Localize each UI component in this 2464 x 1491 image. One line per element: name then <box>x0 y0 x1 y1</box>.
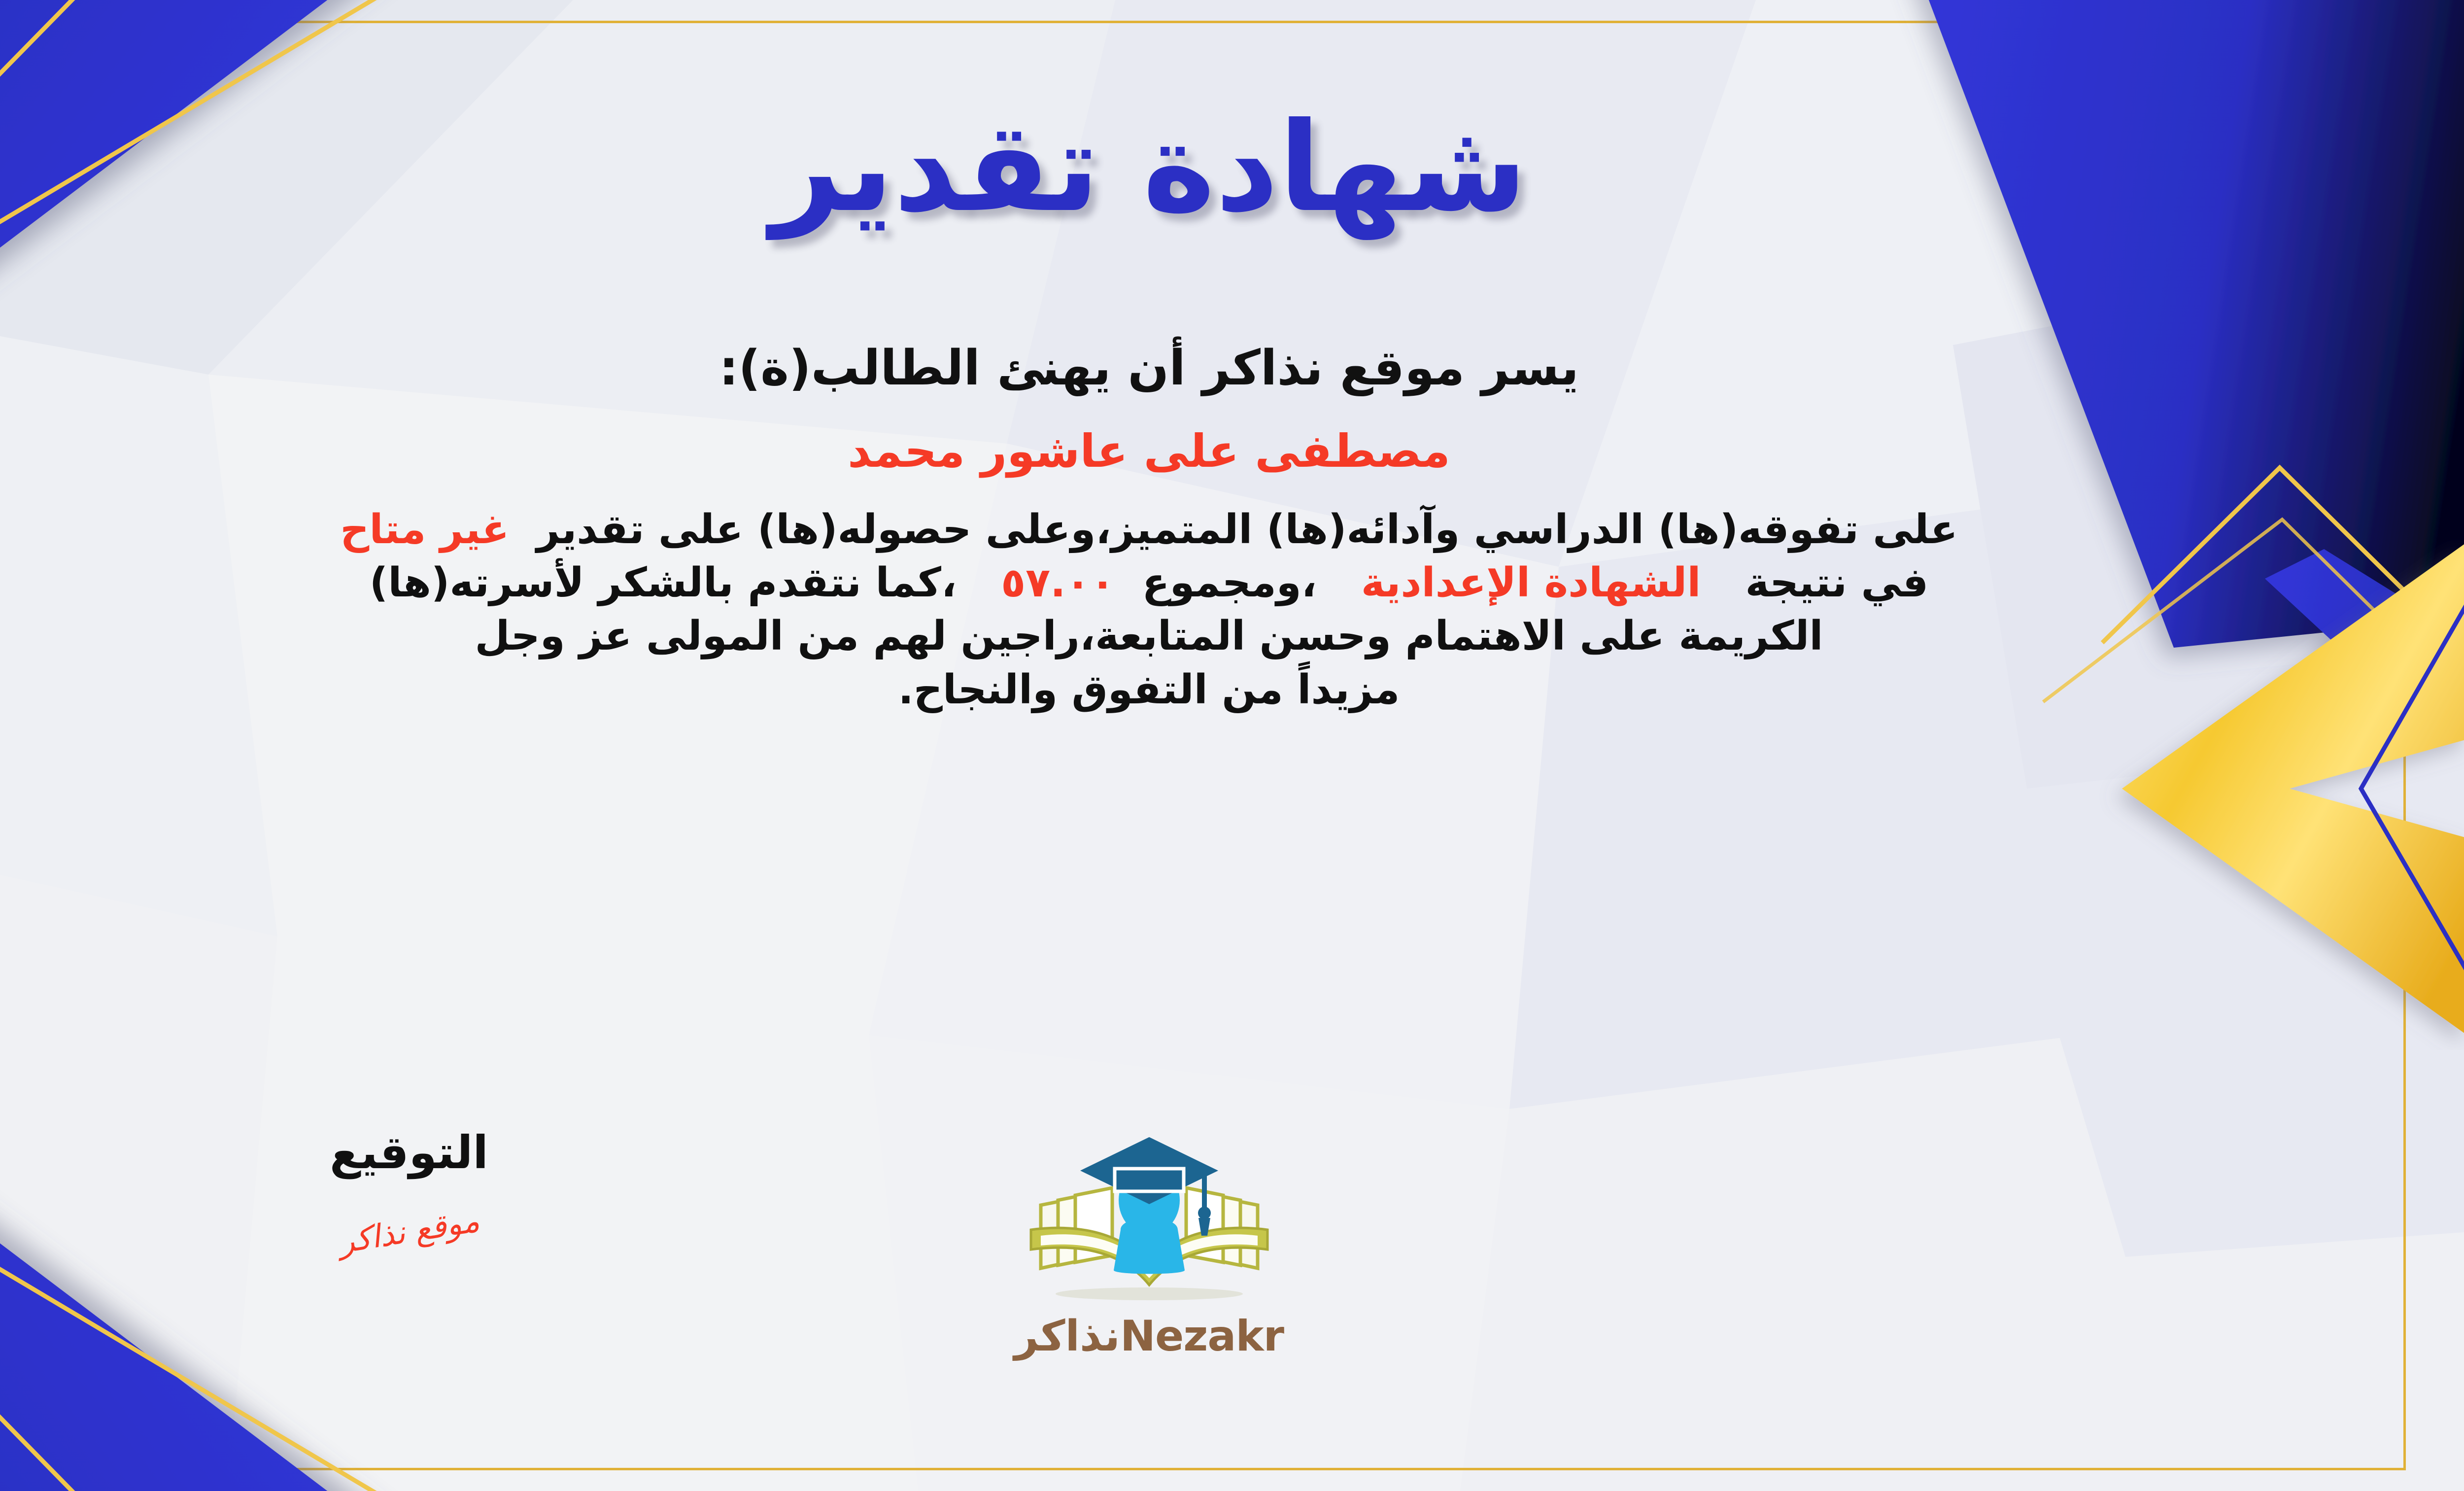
signature-label: التوقيع <box>222 1126 596 1179</box>
body-line-1-text: على تفوقه(ها) الدراسي وآدائه(ها) المتميز… <box>536 506 1957 553</box>
title-area: شهادة تقدير <box>771 89 1527 246</box>
certificate-page: شهادة تقدير يسر موقع نذاكر أن يهنئ الطال… <box>0 0 2464 1491</box>
body-line-3: الكريمة على الاهتمام وحسن المتابعة،راجين… <box>0 610 2357 663</box>
grade-value: غير متاح <box>340 506 509 553</box>
signature-handwriting: موقع نذاكر <box>221 1184 597 1279</box>
logo-wordmark: Nezakrنذاكر <box>927 1312 1371 1361</box>
signature-block: التوقيع موقع نذاكر <box>222 1126 596 1250</box>
page-title: شهادة تقدير <box>771 106 1527 229</box>
greeting-text: يسر موقع نذاكر أن يهنئ الطالب(ة): <box>719 340 1579 396</box>
body-line-2: في نتيجةالشهادة الإعدادية،ومجموع٥٧.٠٠،كم… <box>0 556 2357 610</box>
student-name: مصطفى على عاشور محمد <box>848 425 1450 478</box>
total-score: ٥٧.٠٠ <box>1001 559 1115 606</box>
certificate-footer: التوقيع موقع نذاكر <box>0 1126 2464 1432</box>
site-logo: Nezakrنذاكر <box>927 1131 1371 1361</box>
body-line-1: على تفوقه(ها) الدراسي وآدائه(ها) المتميز… <box>0 503 2357 556</box>
thanks-text: ،كما نتقدم بالشكر لأسرته(ها) <box>370 559 957 606</box>
total-prefix: ،ومجموع <box>1142 559 1316 606</box>
body-paragraph: على تفوقه(ها) الدراسي وآدائه(ها) المتميز… <box>0 503 2357 717</box>
result-prefix: في نتيجة <box>1745 559 1928 606</box>
body-line-4: مزيداً من التفوق والنجاح. <box>0 663 2357 717</box>
certificate-stage: الشهادة الإعدادية <box>1361 559 1701 606</box>
graduate-book-logo-icon <box>1011 1131 1287 1309</box>
